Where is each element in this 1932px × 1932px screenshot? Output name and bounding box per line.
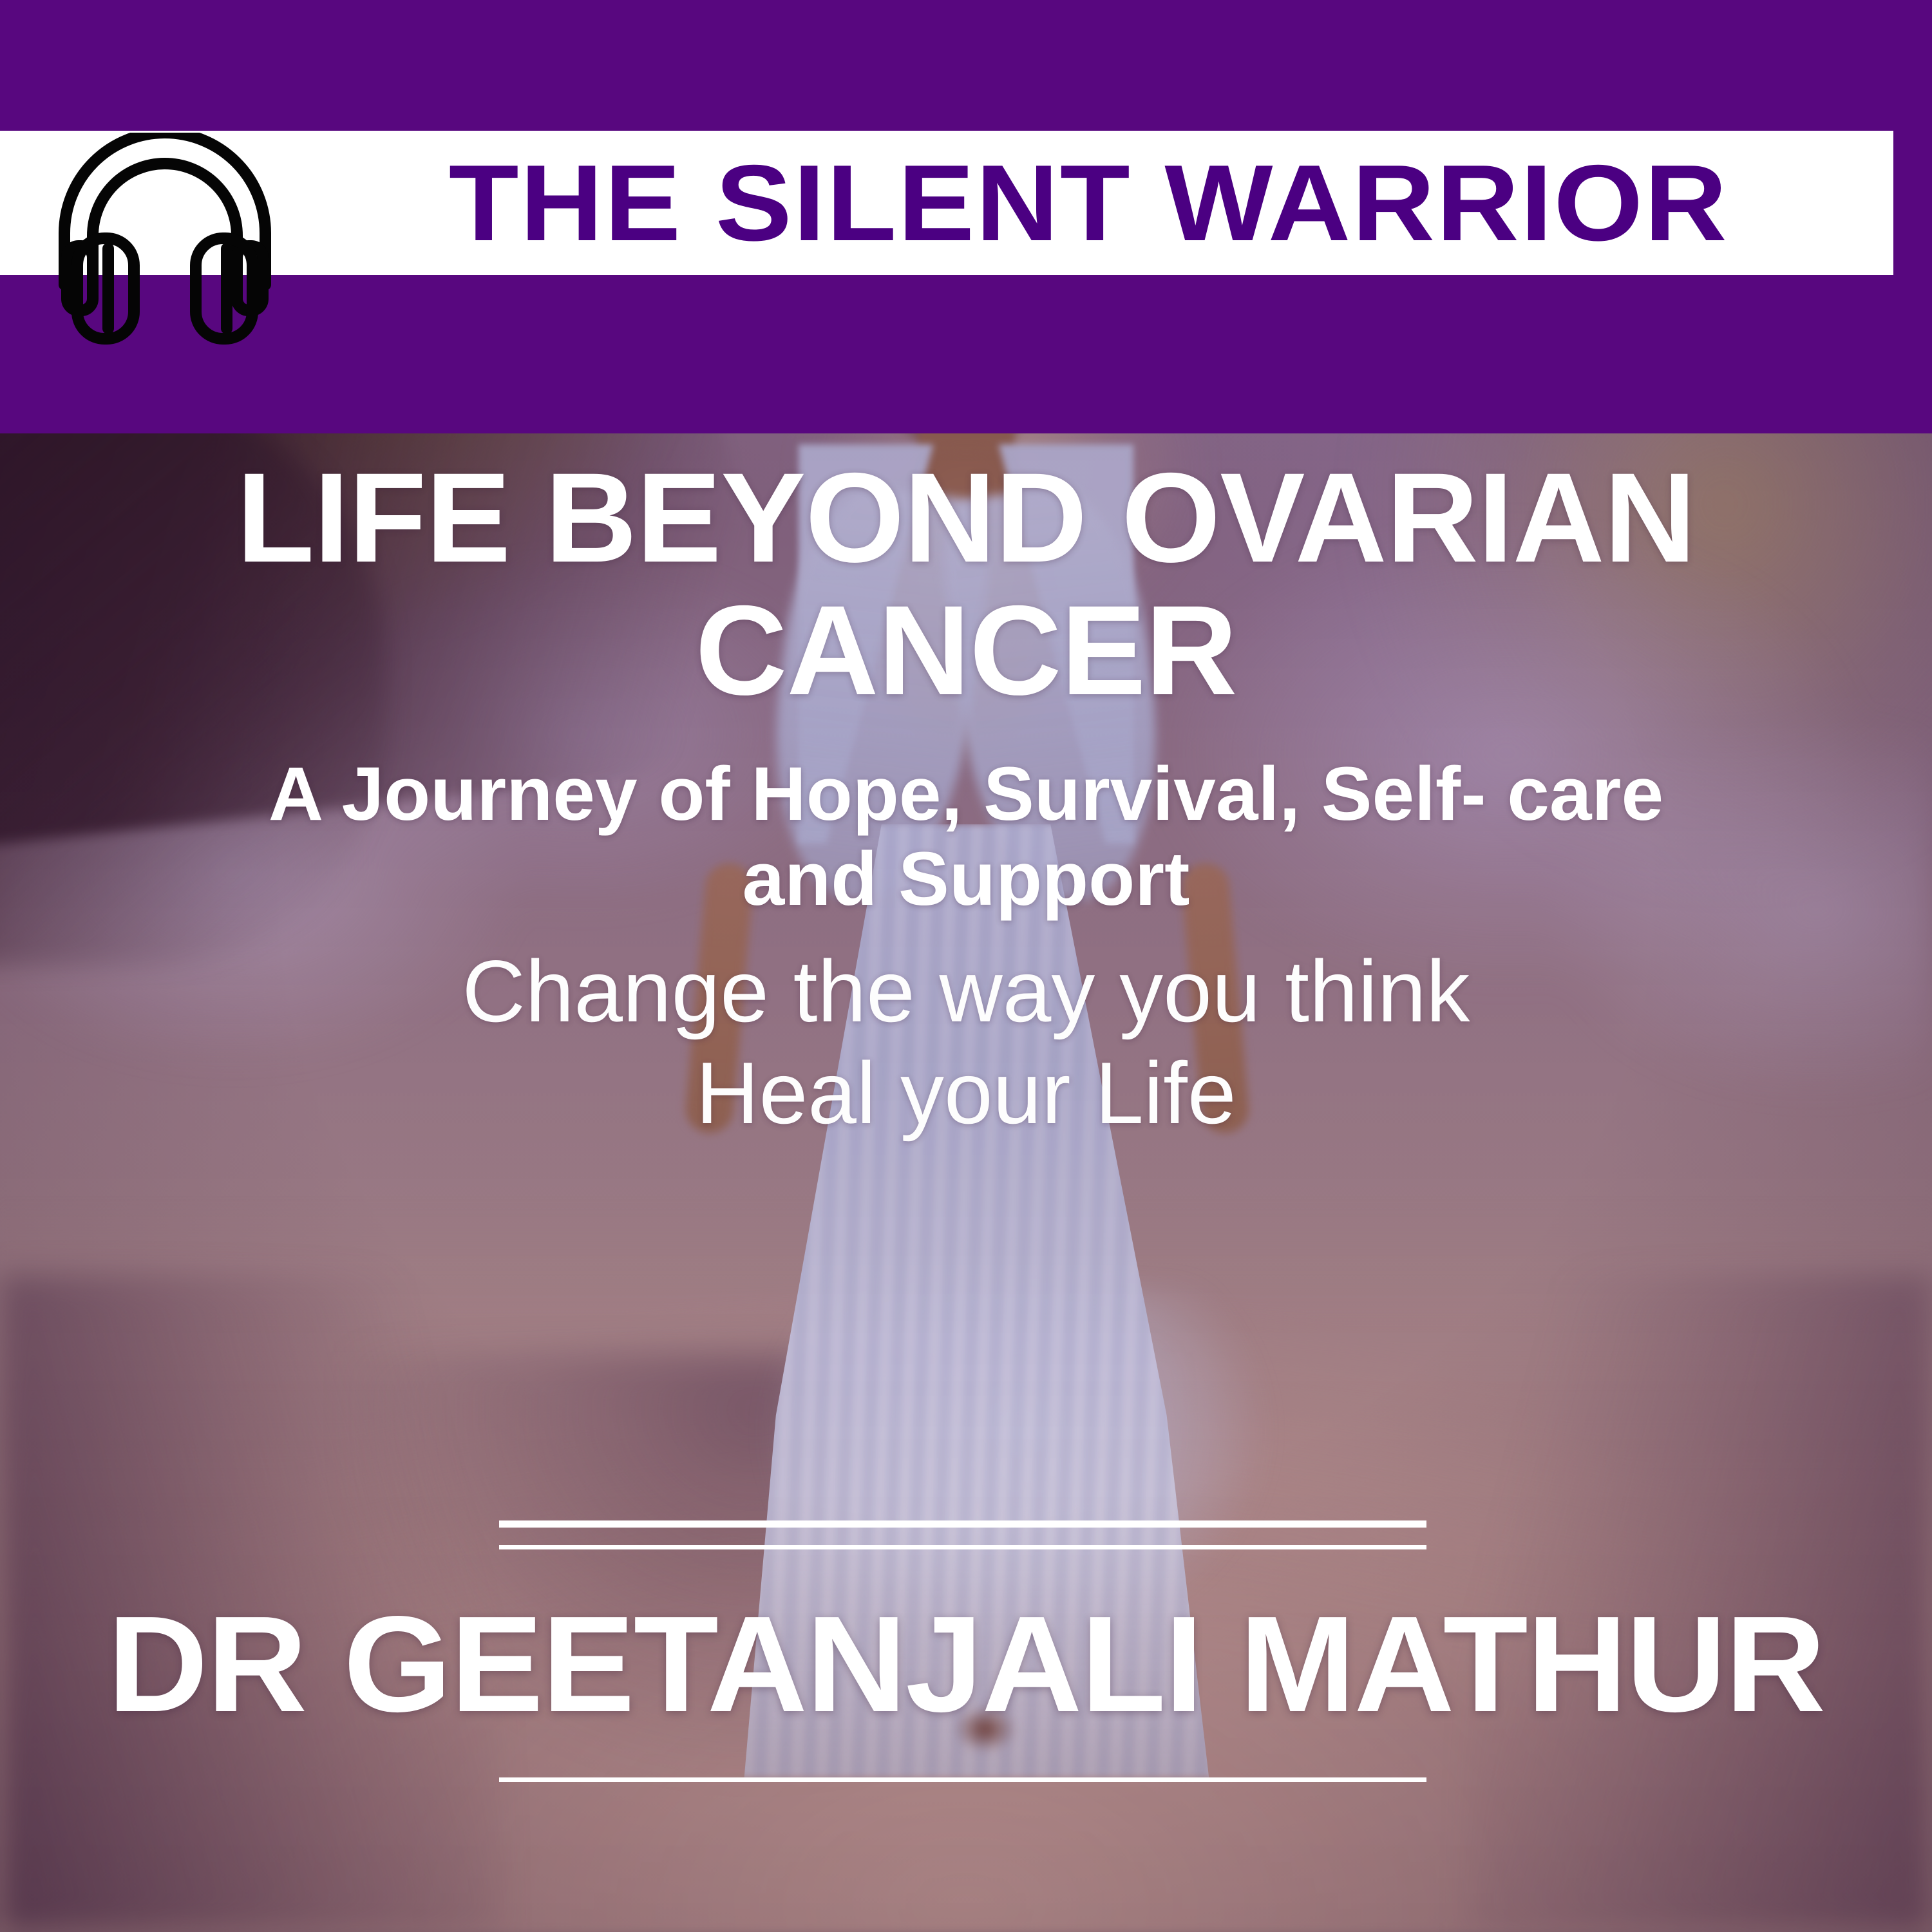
brand-title-text: THE SILENT WARRIOR [448, 149, 1728, 257]
author-divider-top [499, 1520, 1426, 1549]
author-name: DR GEETANJALI MATHUR [0, 1596, 1932, 1732]
author-divider-bottom [499, 1777, 1426, 1782]
tagline-line-2: Heal your Life [45, 1043, 1887, 1144]
author-divider-top-thick [499, 1520, 1426, 1528]
headphones-icon [36, 133, 294, 345]
audiobook-cover: THE SILENT WARRIOR LIFE BEYOND OVARIAN C… [0, 0, 1932, 1932]
brand-title: THE SILENT WARRIOR [303, 131, 1874, 275]
page-title: LIFE BEYOND OVARIAN CANCER [0, 451, 1932, 717]
tagline-line-1: Change the way you think [45, 941, 1887, 1043]
subtitle-line-2: and Support [45, 837, 1887, 922]
subtitle-line-1: A Journey of Hope, Survival, Self- care [45, 752, 1887, 837]
page-tagline: Change the way you think Heal your Life [0, 941, 1932, 1144]
title-line-2: CANCER [58, 584, 1874, 717]
page-subtitle: A Journey of Hope, Survival, Self- care … [0, 752, 1932, 922]
cover-text-stack: LIFE BEYOND OVARIAN CANCER A Journey of … [0, 433, 1932, 1144]
title-line-1: LIFE BEYOND OVARIAN [58, 451, 1874, 584]
author-divider-top-thin [499, 1545, 1426, 1549]
